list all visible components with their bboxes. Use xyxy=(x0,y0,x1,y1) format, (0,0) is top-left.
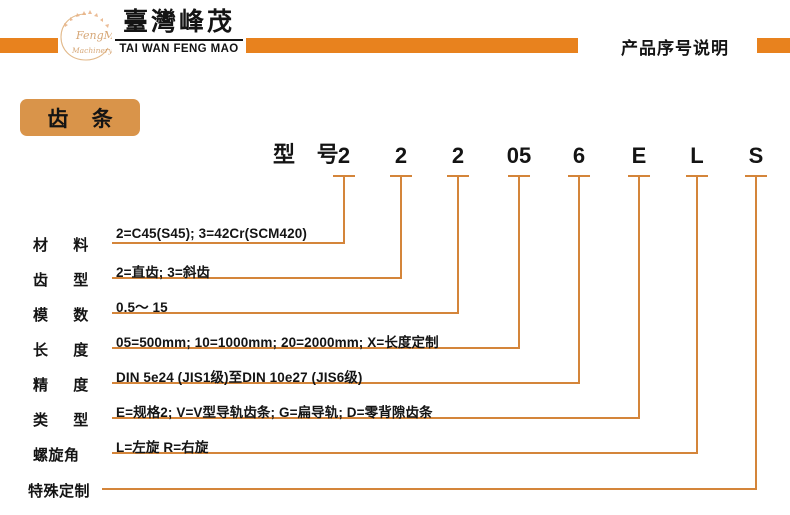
spec-row-desc-accuracy: DIN 5e24 (JIS1级)至DIN 10e27 (JIS6级) xyxy=(116,366,363,386)
spec-row-label-module: 模 数 xyxy=(33,304,98,325)
spec-row-desc-material: 2=C45(S45); 3=42Cr(SCM420) xyxy=(116,226,307,241)
spec-row-desc-type: E=规格2; V=V型导轨齿条; G=扁导轨; D=零背隙齿条 xyxy=(116,401,433,421)
product-serial-number-diagram: FengMao Machinery 臺灣峰茂 TAI WAN FENG MAO … xyxy=(0,0,790,515)
spec-row-label-custom: 特殊定制 xyxy=(28,480,90,501)
spec-row-desc-module: 0.5～ 15 xyxy=(116,296,168,316)
spec-row-desc-tooth-type: 2=直齿; 3=斜齿 xyxy=(116,261,210,281)
spec-row-label-tooth-type: 齿 型 xyxy=(33,269,98,290)
spec-row-label-length: 长 度 xyxy=(33,339,98,360)
spec-row-label-accuracy: 精 度 xyxy=(33,374,98,395)
spec-row-label-material: 材 料 xyxy=(33,234,98,255)
spec-row-desc-helix-angle: L=左旋 R=右旋 xyxy=(116,436,208,456)
spec-row-label-type: 类 型 xyxy=(33,409,98,430)
spec-row-desc-length: 05=500mm; 10=1000mm; 20=2000mm; X=长度定制 xyxy=(116,331,439,351)
spec-row-label-helix-angle: 螺旋角 xyxy=(33,444,80,465)
